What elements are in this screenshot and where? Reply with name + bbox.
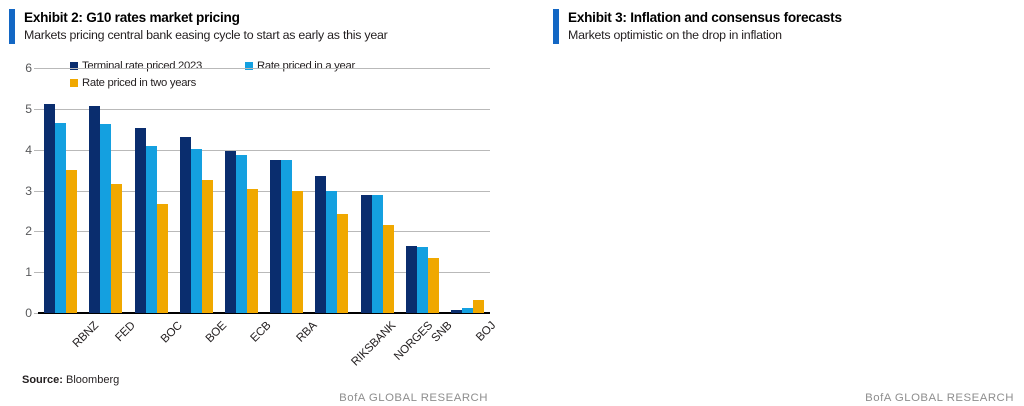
exhibit-3-panel: Exhibit 3: Inflation and consensus forec… bbox=[512, 0, 1024, 406]
y-axis-tick-label: 1 bbox=[25, 265, 32, 279]
exhibit-3-brand: BofA GLOBAL RESEARCH bbox=[865, 392, 1014, 404]
exhibit-3-title: Exhibit 3: Inflation and consensus forec… bbox=[568, 10, 842, 26]
y-axis-tick-label: 2 bbox=[25, 224, 32, 238]
accent-bar-icon bbox=[553, 9, 559, 44]
bar-group bbox=[309, 68, 354, 313]
bar[interactable] bbox=[191, 149, 202, 313]
x-axis-label-text: BOJ bbox=[474, 319, 499, 344]
accent-bar-icon bbox=[9, 9, 15, 44]
bar[interactable] bbox=[100, 124, 111, 313]
exhibit-2-brand: BofA GLOBAL RESEARCH bbox=[339, 392, 488, 404]
bar[interactable] bbox=[247, 189, 258, 313]
bar[interactable] bbox=[315, 176, 326, 313]
exhibit-3-subtitle: Markets optimistic on the drop in inflat… bbox=[568, 28, 842, 44]
x-axis-label: BOJ bbox=[445, 317, 490, 367]
y-axis-tick-label: 4 bbox=[25, 143, 32, 157]
bar[interactable] bbox=[451, 310, 462, 313]
bar-group bbox=[38, 68, 83, 313]
bar-area bbox=[38, 68, 490, 313]
bar[interactable] bbox=[180, 137, 191, 313]
exhibit-3-header: Exhibit 3: Inflation and consensus forec… bbox=[512, 0, 1024, 44]
y-axis-tick-label: 3 bbox=[25, 184, 32, 198]
bar[interactable] bbox=[111, 184, 122, 313]
bar[interactable] bbox=[66, 170, 77, 313]
bar[interactable] bbox=[292, 191, 303, 314]
bar[interactable] bbox=[157, 204, 168, 313]
bar[interactable] bbox=[89, 106, 100, 313]
bar[interactable] bbox=[270, 160, 281, 313]
bar-group bbox=[174, 68, 219, 313]
bar[interactable] bbox=[473, 300, 484, 313]
y-axis-tick-label: 6 bbox=[25, 61, 32, 75]
bar[interactable] bbox=[383, 225, 394, 313]
bar[interactable] bbox=[146, 146, 157, 313]
x-axis-label: BOC bbox=[128, 317, 173, 367]
bar-group bbox=[354, 68, 399, 313]
y-axis-tick-label: 5 bbox=[25, 102, 32, 116]
x-axis-label: BOE bbox=[174, 317, 219, 367]
source-value: Bloomberg bbox=[66, 374, 119, 386]
exhibit-2-title: Exhibit 2: G10 rates market pricing bbox=[24, 10, 388, 26]
bar[interactable] bbox=[428, 258, 439, 313]
exhibit-2-header: Exhibit 2: G10 rates market pricing Mark… bbox=[0, 0, 512, 44]
bar-group bbox=[219, 68, 264, 313]
x-axis-label: RIKSBANK bbox=[309, 317, 354, 367]
y-axis-tick-label: 0 bbox=[25, 306, 32, 320]
bar[interactable] bbox=[225, 151, 236, 313]
exhibit-2-plot: 0123456 bbox=[38, 68, 490, 313]
bar[interactable] bbox=[44, 104, 55, 313]
bar[interactable] bbox=[337, 214, 348, 313]
x-axis-label: NORGES bbox=[354, 317, 399, 367]
bar[interactable] bbox=[236, 155, 247, 313]
bar-group bbox=[128, 68, 173, 313]
bar-group bbox=[400, 68, 445, 313]
bar[interactable] bbox=[202, 180, 213, 313]
source-label: Source: bbox=[22, 374, 63, 386]
x-axis-label: FED bbox=[83, 317, 128, 367]
bar[interactable] bbox=[417, 247, 428, 313]
bar-group bbox=[83, 68, 128, 313]
bar[interactable] bbox=[406, 246, 417, 313]
bar[interactable] bbox=[326, 191, 337, 313]
bar[interactable] bbox=[135, 128, 146, 313]
bar[interactable] bbox=[462, 308, 473, 313]
exhibits-board: Exhibit 2: G10 rates market pricing Mark… bbox=[0, 0, 1024, 406]
bar[interactable] bbox=[372, 195, 383, 313]
x-axis-label: RBNZ bbox=[38, 317, 83, 367]
x-axis-label: ECB bbox=[219, 317, 264, 367]
exhibit-2-panel: Exhibit 2: G10 rates market pricing Mark… bbox=[0, 0, 512, 406]
x-axis-label: RBA bbox=[264, 317, 309, 367]
exhibit-2-subtitle: Markets pricing central bank easing cycl… bbox=[24, 28, 388, 44]
bar-group bbox=[445, 68, 490, 313]
exhibit-2-x-axis-labels: RBNZFEDBOCBOEECBRBARIKSBANKNORGESSNBBOJ bbox=[38, 317, 490, 367]
bar[interactable] bbox=[55, 123, 66, 313]
bar[interactable] bbox=[281, 160, 292, 313]
x-axis-label: SNB bbox=[400, 317, 445, 367]
exhibit-2-source: Source: Bloomberg bbox=[22, 374, 119, 386]
bar[interactable] bbox=[361, 195, 372, 313]
bar-group bbox=[264, 68, 309, 313]
